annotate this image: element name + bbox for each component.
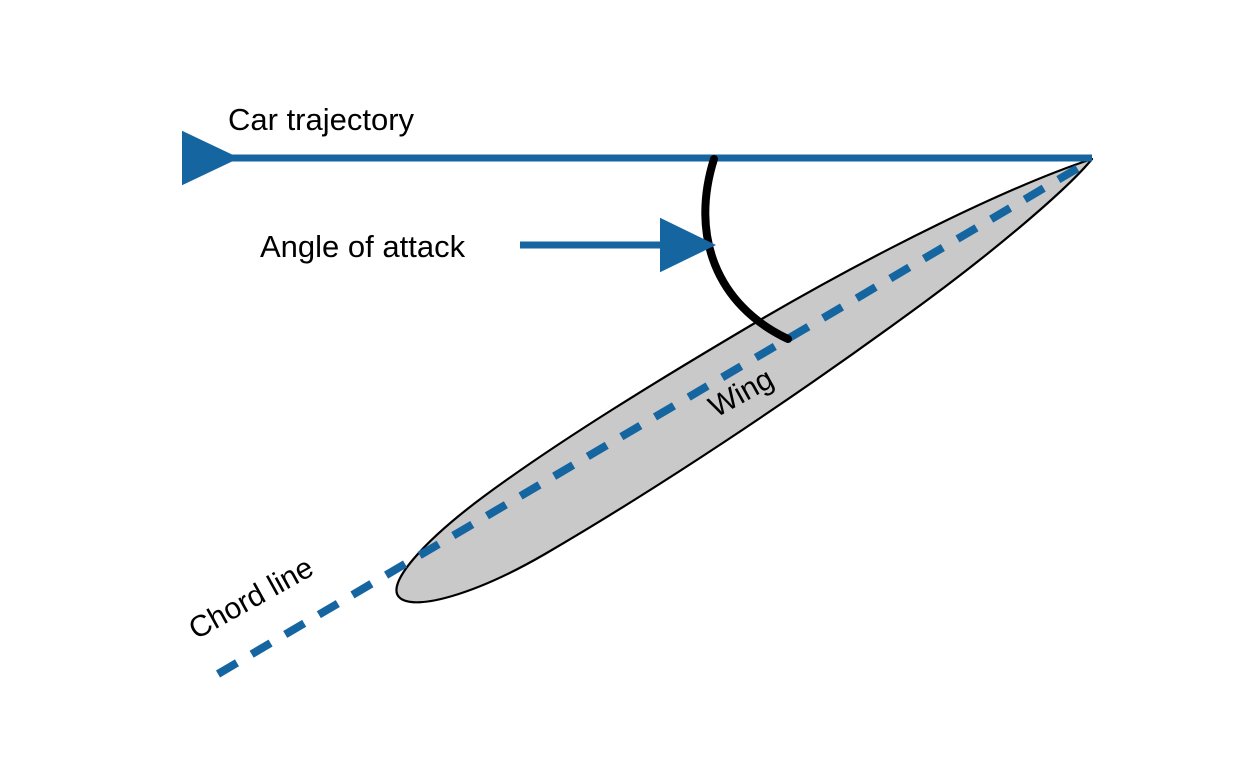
diagram-canvas: Car trajectory Angle of attack Wing Chor… bbox=[0, 0, 1248, 768]
chord-line-label: Chord line bbox=[183, 551, 319, 646]
angle-of-attack-label: Angle of attack bbox=[260, 229, 466, 264]
angle-of-attack-diagram: Car trajectory Angle of attack Wing Chor… bbox=[0, 0, 1248, 768]
car-trajectory-label: Car trajectory bbox=[228, 102, 415, 137]
